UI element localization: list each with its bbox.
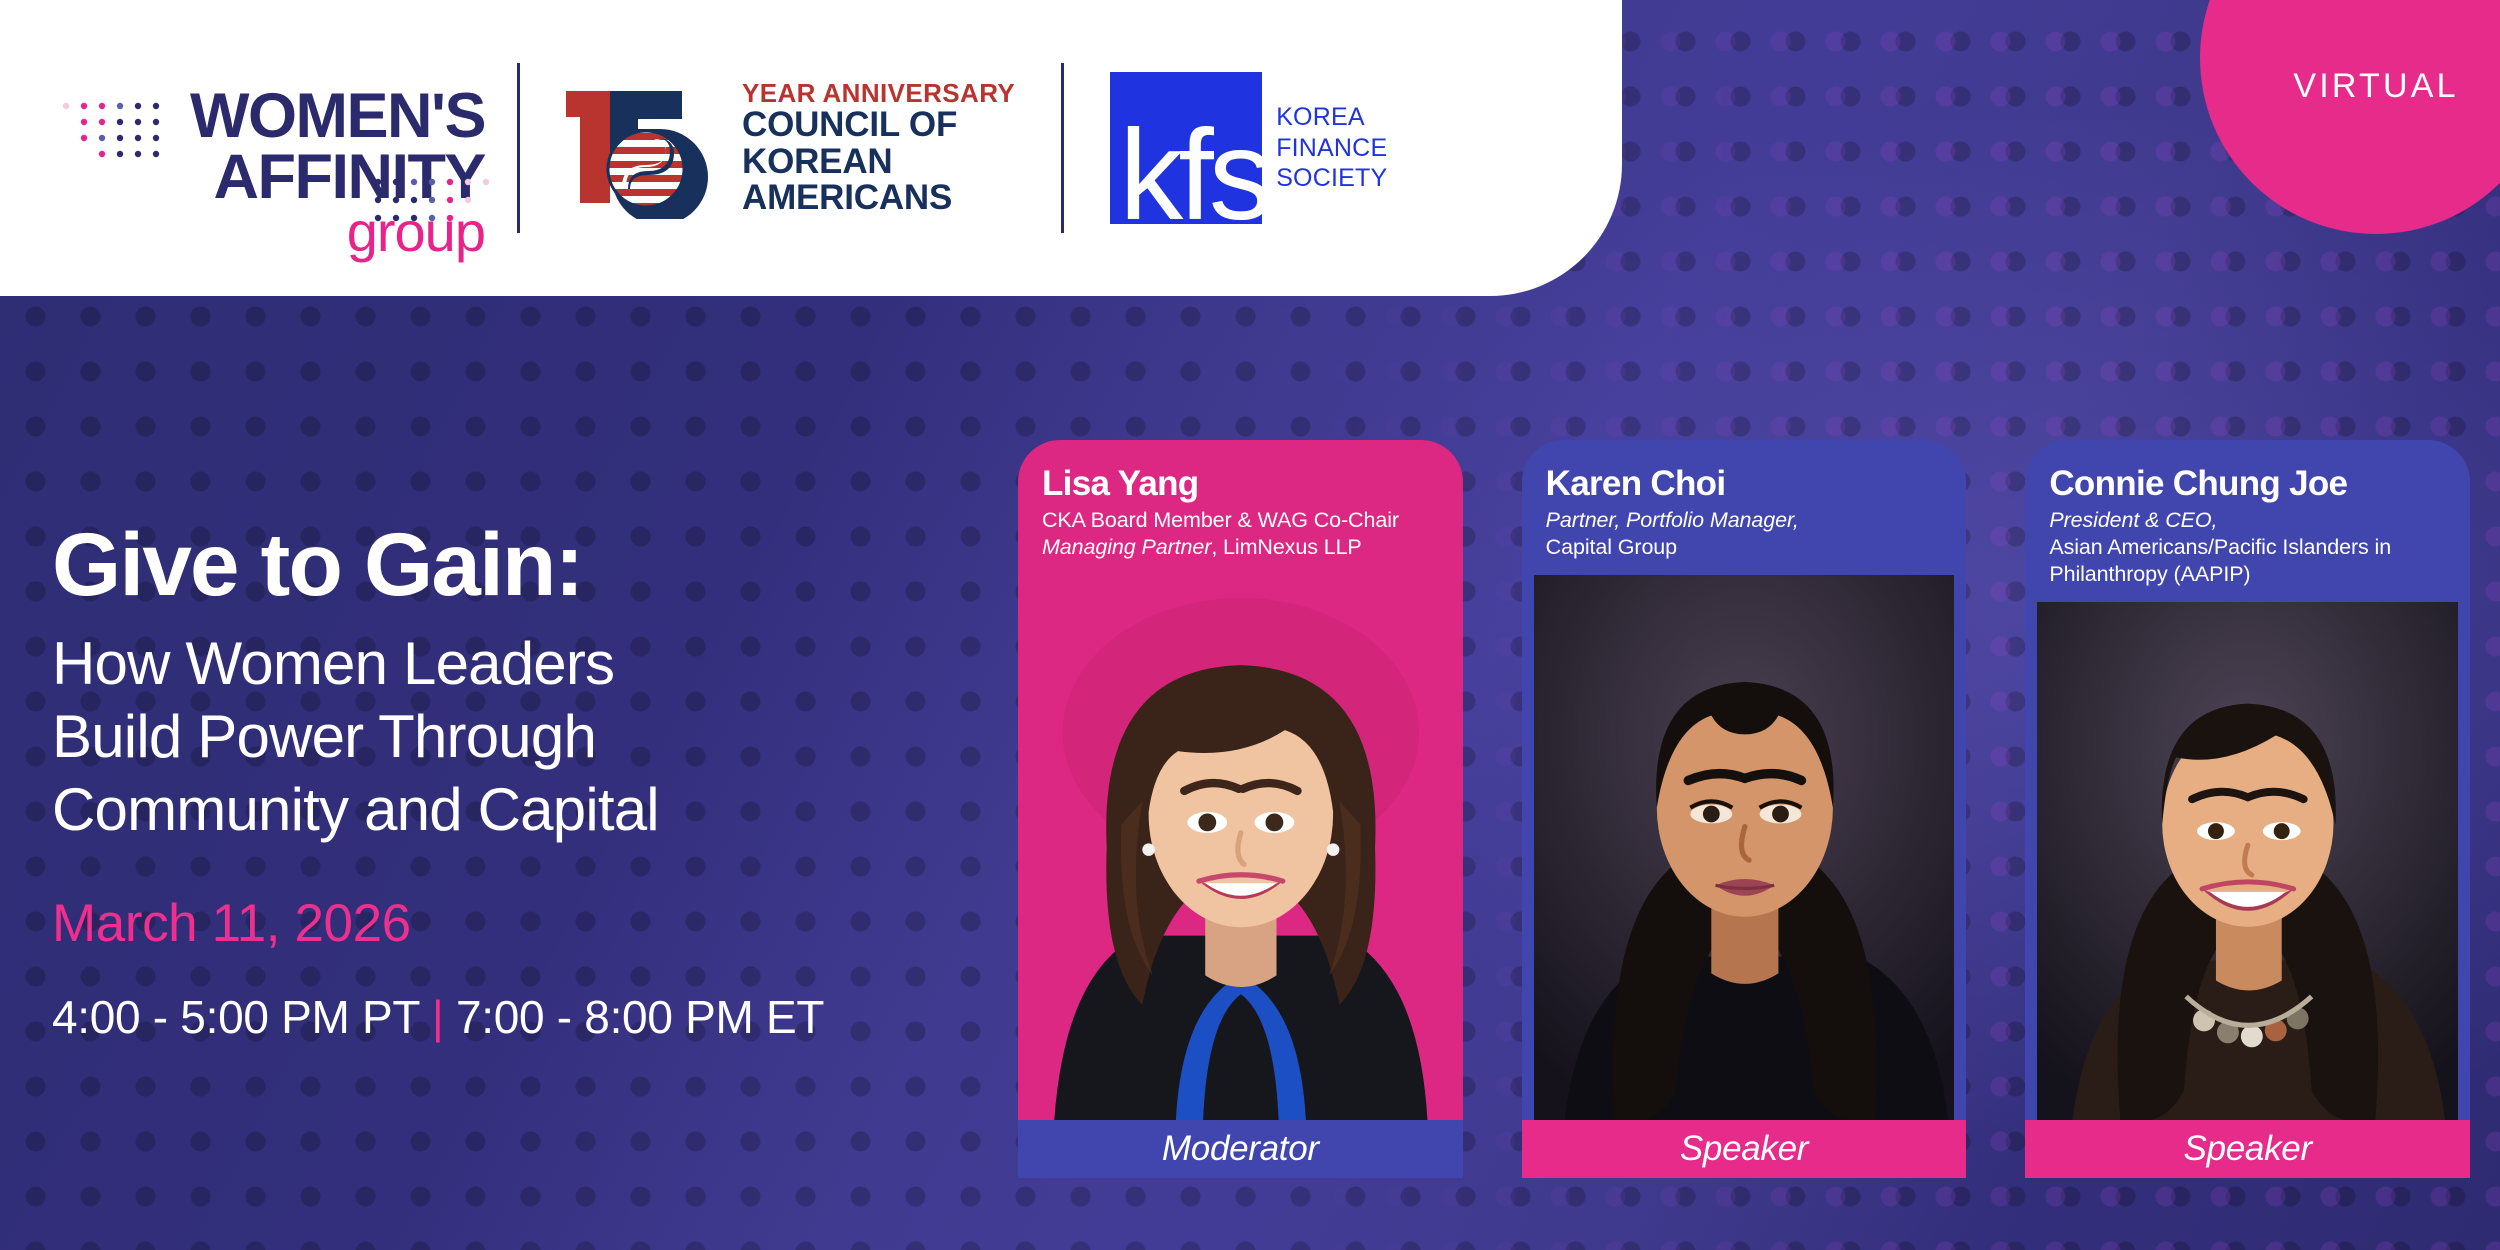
speaker-card-header: Karen Choi Partner, Portfolio Manager, C…: [1522, 440, 1967, 575]
event-time-pt: 4:00 - 5:00 PM PT: [52, 991, 419, 1043]
logo-divider-1: [517, 63, 520, 233]
cka-15-mark: [566, 77, 728, 219]
event-subtitle-line-1: How Women Leaders: [52, 627, 1012, 700]
speaker-name: Lisa Yang: [1042, 466, 1463, 503]
event-title: Give to Gain:: [52, 520, 1012, 609]
speaker-card: Karen Choi Partner, Portfolio Manager, C…: [1522, 440, 1967, 1178]
speaker-meta: President & CEO, Asian Americans/Pacific…: [2049, 507, 2470, 588]
kfs-line-1: KOREA: [1276, 102, 1387, 133]
poster-canvas: VIRTUAL: [0, 0, 2500, 1250]
speaker-role-label: Speaker: [1680, 1129, 1808, 1169]
wag-dot-motif-right: [372, 176, 494, 236]
event-time: 4:00 - 5:00 PM PT | 7:00 - 8:00 PM ET: [52, 990, 1012, 1044]
womens-affinity-group-logo: WOMEN'S AFFINITY group: [42, 48, 517, 248]
council-of-korean-americans-logo: YEAR ANNIVERSARY COUNCIL OF KOREAN AMERI…: [566, 77, 1015, 219]
kfs-wordmark: KOREA FINANCE SOCIETY: [1276, 102, 1387, 194]
wag-line-1: WOMEN'S: [190, 88, 485, 146]
speaker-card-header: Lisa Yang CKA Board Member & WAG Co-Chai…: [1018, 440, 1463, 575]
speaker-portrait-karen-choi: [1534, 575, 1955, 1120]
event-date: March 11, 2026: [52, 893, 1012, 954]
speaker-meta-title: President & CEO,: [2049, 507, 2470, 534]
speaker-meta-line-1: CKA Board Member & WAG Co-Chair: [1042, 507, 1463, 534]
speaker-photo: [1534, 575, 1955, 1120]
speaker-role-badge: Speaker: [2025, 1120, 2470, 1178]
speaker-card: Connie Chung Joe President & CEO, Asian …: [2025, 440, 2470, 1178]
speaker-meta-title: Managing Partner: [1042, 535, 1211, 559]
speaker-meta: CKA Board Member & WAG Co-Chair Managing…: [1042, 507, 1463, 561]
logo-divider-2: [1061, 63, 1064, 233]
cka-name-line-1: COUNCIL OF: [742, 107, 1015, 143]
virtual-badge-label: VIRTUAL: [2293, 67, 2458, 106]
kfs-line-2: FINANCE: [1276, 133, 1387, 164]
speaker-card: Lisa Yang CKA Board Member & WAG Co-Chai…: [1018, 440, 1463, 1178]
event-subtitle-line-2: Build Power Through: [52, 700, 1012, 773]
cka-name-line-2: KOREAN: [742, 144, 1015, 180]
speaker-meta: Partner, Portfolio Manager, Capital Grou…: [1546, 507, 1967, 561]
speaker-meta-org: Asian Americans/Pacific Islanders in Phi…: [2049, 534, 2470, 588]
speaker-photo: [2037, 602, 2458, 1120]
speaker-name: Connie Chung Joe: [2049, 466, 2470, 503]
speaker-card-header: Connie Chung Joe President & CEO, Asian …: [2025, 440, 2470, 602]
speaker-portrait-connie-chung-joe: [2037, 602, 2458, 1120]
cka-name-line-3: AMERICANS: [742, 180, 1015, 216]
speaker-meta-org: Capital Group: [1546, 534, 1967, 561]
speaker-meta-title: Partner, Portfolio Manager,: [1546, 507, 1967, 534]
speaker-name: Karen Choi: [1546, 466, 1967, 503]
speaker-role-badge: Speaker: [1522, 1120, 1967, 1178]
event-subtitle-line-3: Community and Capital: [52, 773, 1012, 846]
speaker-role-label: Speaker: [2184, 1129, 2312, 1169]
cka-wordmark: YEAR ANNIVERSARY COUNCIL OF KOREAN AMERI…: [742, 79, 1015, 216]
speaker-photo: [1030, 575, 1451, 1120]
kfs-line-3: SOCIETY: [1276, 163, 1387, 194]
kfs-square-mark: kfs: [1110, 72, 1262, 224]
event-time-et: 7:00 - 8:00 PM ET: [456, 991, 824, 1043]
cka-anniversary-numeral: [566, 77, 728, 219]
speaker-meta-org: , LimNexus LLP: [1211, 535, 1361, 559]
wag-dot-motif-left: [60, 100, 178, 168]
speaker-role-badge: Moderator: [1018, 1120, 1463, 1178]
logo-header-panel: WOMEN'S AFFINITY group: [0, 0, 1622, 296]
speaker-card-list: Lisa Yang CKA Board Member & WAG Co-Chai…: [1018, 440, 2470, 1178]
event-copy-block: Give to Gain: How Women Leaders Build Po…: [52, 520, 1012, 1044]
korea-finance-society-logo: kfs KOREA FINANCE SOCIETY: [1110, 72, 1387, 224]
event-time-separator: |: [432, 991, 444, 1043]
cka-anniversary-label: YEAR ANNIVERSARY: [742, 79, 1015, 107]
speaker-portrait-lisa-yang: [1030, 575, 1451, 1120]
kfs-mark-letters: kfs: [1119, 112, 1268, 240]
speaker-role-label: Moderator: [1162, 1129, 1319, 1169]
